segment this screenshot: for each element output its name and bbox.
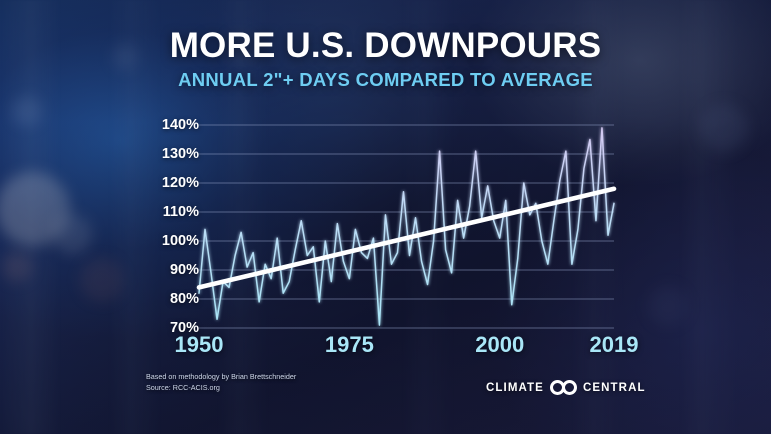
y-axis-tick-label: 120%	[162, 175, 199, 191]
x-axis-labels: 1950197520002019	[0, 332, 771, 366]
y-axis-tick-label: 130%	[162, 146, 199, 162]
source-credits: Based on methodology by Brian Brettschne…	[146, 372, 296, 394]
y-axis-tick-label: 90%	[170, 262, 199, 278]
chart: 140%130%120%110%100%90%80%70% 1950197520…	[0, 0, 771, 434]
y-axis-tick-label: 140%	[162, 117, 199, 133]
series-line-downpour-days	[199, 128, 614, 325]
climate-central-logo: CLIMATE CENTRAL	[486, 380, 646, 395]
y-axis-tick-label: 110%	[163, 204, 199, 220]
y-axis-tick-label: 100%	[162, 233, 199, 249]
interlocking-circles-icon	[550, 380, 577, 395]
credit-source: Source: RCC-ACIS.org	[146, 383, 296, 394]
infographic-stage: MORE U.S. DOWNPOURS ANNUAL 2"+ DAYS COMP…	[0, 0, 771, 434]
x-axis-tick-label: 1950	[175, 332, 224, 358]
y-axis-tick-label: 80%	[170, 291, 199, 307]
x-axis-tick-label: 2000	[475, 332, 524, 358]
chart-plot-area	[0, 0, 771, 434]
x-axis-tick-label: 1975	[325, 332, 374, 358]
credit-methodology: Based on methodology by Brian Brettschne…	[146, 372, 296, 383]
x-axis-tick-label: 2019	[590, 332, 639, 358]
logo-text-central: CENTRAL	[583, 382, 646, 394]
y-axis-labels: 140%130%120%110%100%90%80%70%	[143, 112, 199, 338]
logo-text-climate: CLIMATE	[486, 382, 544, 394]
